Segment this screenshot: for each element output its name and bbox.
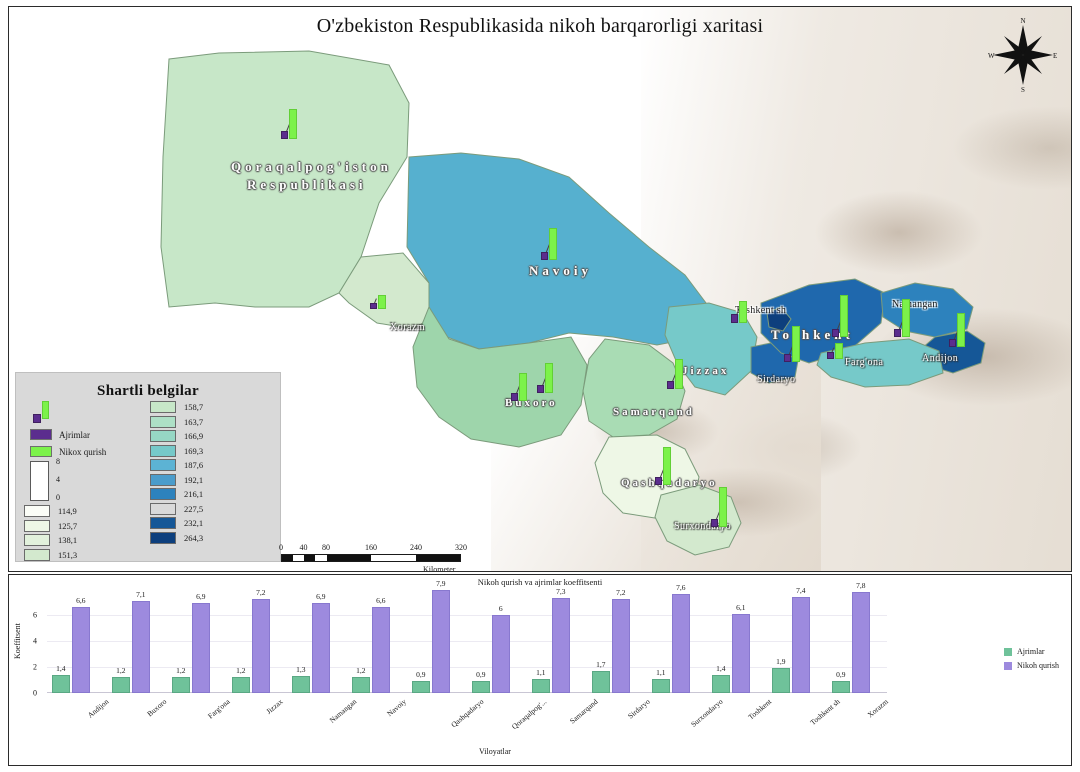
- chart-bar-nikoh-qurish: [492, 615, 510, 693]
- chart-bar-value-label: 1,2: [176, 666, 185, 675]
- legend-series-ajrimlar: Ajrimlar: [30, 429, 90, 440]
- legend-class-left-value: 138,1: [58, 535, 77, 545]
- svg-text:E: E: [1053, 52, 1057, 60]
- chart-bar-ajrimlar: [472, 681, 490, 693]
- chart-x-tick-label: Toshkent sh: [808, 697, 841, 727]
- map-bar-symbol: [667, 359, 685, 389]
- scalebar-tick: 320: [455, 543, 467, 552]
- legend-class-right-row: 264,3: [150, 532, 203, 544]
- chart-bar-value-label: 1,7: [596, 660, 605, 669]
- chart-bar-group: 0,96: [467, 589, 527, 693]
- map-bar-symbol: [655, 447, 673, 485]
- chart-bar-value-label: 1,1: [536, 668, 545, 677]
- chart-bar-value-label: 1,3: [296, 665, 305, 674]
- chart-panel: Nikoh qurish va ajrimlar koeffitsenti Ko…: [8, 574, 1072, 766]
- legend-scale-tick-4: 4: [56, 475, 60, 484]
- legend-class-right-row: 192,1: [150, 474, 203, 486]
- chart-bar-nikoh-qurish: [312, 603, 330, 693]
- legend-class-right-value: 169,3: [184, 446, 203, 456]
- map-bar-ajrimlar: [370, 303, 377, 309]
- map-bar-nikoh-qurish: [663, 447, 671, 485]
- legend-class-right-swatch: [150, 401, 176, 413]
- chart-y-axis-label: Koeffitsent: [13, 623, 22, 659]
- map-bar-symbol: [832, 295, 850, 337]
- map-bar-symbol: [894, 299, 912, 337]
- chart-x-tick-label: Namangan: [328, 697, 359, 725]
- legend-series-nikox-qurish: Nikox qurish: [30, 446, 106, 457]
- chart-bar-value-label: 0,9: [836, 670, 845, 679]
- legend-class-right-value: 158,7: [184, 402, 203, 412]
- map-bar-ajrimlar: [784, 354, 791, 362]
- scalebar-tick: 160: [365, 543, 377, 552]
- legend-class-right-value: 232,1: [184, 518, 203, 528]
- legend-series-label: Nikox qurish: [59, 447, 106, 457]
- map-bar-ajrimlar: [731, 314, 738, 323]
- map-bar-nikoh-qurish: [519, 373, 527, 401]
- chart-x-tick-label: Toshkent: [746, 697, 773, 722]
- chart-bar-nikoh-qurish: [192, 603, 210, 693]
- chart-bar-value-label: 6,1: [736, 603, 745, 612]
- chart-bar-group: 0,97,8: [827, 589, 887, 693]
- chart-bar-nikoh-qurish: [552, 598, 570, 693]
- chart-bar-value-label: 7,2: [616, 588, 625, 597]
- chart-bar-value-label: 6,9: [196, 592, 205, 601]
- chart-x-tick-label: Sirdaryo: [626, 697, 652, 721]
- scalebar-unit-label: Kilometer: [423, 565, 455, 572]
- chart-bar-value-label: 7,3: [556, 587, 565, 596]
- legend-class-right-row: 166,9: [150, 430, 203, 442]
- chart-bar-value-label: 1,1: [656, 668, 665, 677]
- map-scalebar: 04080160240320 Kilometer: [281, 543, 461, 562]
- map-bar-ajrimlar: [894, 329, 901, 337]
- chart-legend-label: Nikoh qurish: [1017, 661, 1059, 670]
- chart-bar-group: 1,77,2: [587, 589, 647, 693]
- chart-bar-ajrimlar: [772, 668, 790, 693]
- map-bar-symbol: [281, 109, 299, 139]
- chart-bar-nikoh-qurish: [852, 592, 870, 693]
- chart-bar-group: 1,46,6: [47, 589, 107, 693]
- chart-x-axis-label: Viloyatlar: [479, 747, 511, 756]
- legend-scale-tick-0: 0: [56, 493, 60, 502]
- chart-bar-nikoh-qurish: [132, 601, 150, 693]
- chart-bar-ajrimlar: [832, 681, 850, 693]
- chart-bar-value-label: 1,2: [236, 666, 245, 675]
- chart-x-tick-label: Samarqand: [568, 697, 600, 726]
- legend-class-right-row: 163,7: [150, 416, 203, 428]
- legend-class-left-swatch: [24, 505, 50, 517]
- chart-bar-value-label: 1,2: [116, 666, 125, 675]
- map-bar-nikoh-qurish: [545, 363, 553, 393]
- legend-class-right-value: 166,9: [184, 431, 203, 441]
- map-bar-ajrimlar: [281, 131, 288, 139]
- legend-class-right-row: 232,1: [150, 517, 203, 529]
- map-bar-symbol: [827, 343, 845, 359]
- map-bar-nikoh-qurish: [719, 487, 727, 527]
- svg-text:W: W: [988, 52, 995, 60]
- chart-bar-nikoh-qurish: [432, 590, 450, 693]
- map-bar-ajrimlar: [949, 339, 956, 347]
- chart-bar-group: 1,97,4: [767, 589, 827, 693]
- chart-bar-nikoh-qurish: [732, 614, 750, 693]
- map-bar-symbol: [370, 295, 388, 309]
- chart-bar-ajrimlar: [532, 679, 550, 693]
- chart-bar-ajrimlar: [412, 681, 430, 693]
- legend-class-right-value: 192,1: [184, 475, 203, 485]
- map-bar-nikoh-qurish: [835, 343, 843, 359]
- legend-class-right-swatch: [150, 416, 176, 428]
- map-bar-symbol: [784, 326, 802, 362]
- chart-bar-value-label: 7,9: [436, 579, 445, 588]
- legend-class-right-swatch: [150, 474, 176, 486]
- chart-bar-group: 1,17,6: [647, 589, 707, 693]
- map-bar-ajrimlar: [537, 385, 544, 393]
- legend-class-right-swatch: [150, 430, 176, 442]
- chart-bar-ajrimlar: [52, 675, 70, 693]
- chart-title: Nikoh qurish va ajrimlar koeffitsenti: [9, 577, 1071, 587]
- legend-class-left-row: 114,9: [24, 505, 77, 517]
- map-bar-symbol: [949, 313, 967, 347]
- chart-legend-label: Ajrimlar: [1017, 647, 1045, 656]
- chart-x-tick-label: Farg'ona: [206, 697, 232, 720]
- chart-bar-value-label: 7,6: [676, 583, 685, 592]
- chart-bar-ajrimlar: [352, 677, 370, 693]
- map-bar-ajrimlar: [667, 381, 674, 389]
- chart-bar-value-label: 0,9: [476, 670, 485, 679]
- map-bar-ajrimlar: [511, 393, 518, 401]
- map-report-page: O'zbekiston Respublikasida nikoh barqaro…: [0, 0, 1080, 772]
- chart-y-tick-label: 4: [33, 637, 37, 646]
- chart-bar-group: 1,26,6: [347, 589, 407, 693]
- legend-class-right-swatch: [150, 517, 176, 529]
- map-bar-ajrimlar: [832, 329, 839, 337]
- scalebar-tick: 80: [322, 543, 330, 552]
- chart-plot-area: 02461,46,6Andijon1,27,1Buxoro1,26,9Farg'…: [47, 589, 887, 693]
- map-bar-symbol: [541, 228, 559, 260]
- chart-bar-value-label: 7,4: [796, 586, 805, 595]
- map-bar-symbol: [711, 487, 729, 527]
- legend-class-right-row: 227,5: [150, 503, 203, 515]
- chart-legend-item: Ajrimlar: [1004, 647, 1059, 656]
- legend-class-right-swatch: [150, 488, 176, 500]
- chart-bar-value-label: 0,9: [416, 670, 425, 679]
- chart-bar-group: 1,27,1: [107, 589, 167, 693]
- chart-bar-nikoh-qurish: [672, 594, 690, 693]
- chart-y-tick-label: 0: [33, 689, 37, 698]
- chart-legend: AjrimlarNikoh qurish: [1004, 647, 1059, 675]
- compass-rose-icon: N S W E: [983, 13, 1063, 95]
- map-bar-nikoh-qurish: [378, 295, 386, 309]
- chart-bar-value-label: 1,4: [716, 664, 725, 673]
- chart-bar-ajrimlar: [112, 677, 130, 693]
- chart-bar-ajrimlar: [232, 677, 250, 693]
- legend-class-right-value: 216,1: [184, 489, 203, 499]
- chart-bar-group: 1,46,1: [707, 589, 767, 693]
- chart-bar-group: 1,26,9: [167, 589, 227, 693]
- legend-class-right-value: 187,6: [184, 460, 203, 470]
- legend-bar-sample-icon: [30, 401, 64, 423]
- chart-bar-value-label: 1,2: [356, 666, 365, 675]
- map-bar-ajrimlar: [711, 519, 718, 527]
- chart-legend-swatch: [1004, 648, 1012, 656]
- legend-class-right-swatch: [150, 445, 176, 457]
- legend-class-right-value: 264,3: [184, 533, 203, 543]
- chart-bar-nikoh-qurish: [72, 607, 90, 693]
- legend-class-left-value: 114,9: [58, 506, 77, 516]
- legend-class-right-row: 187,6: [150, 459, 203, 471]
- chart-x-tick-label: Buxoro: [145, 697, 168, 718]
- map-bar-symbol: [731, 301, 749, 323]
- scalebar-strip: [281, 554, 461, 562]
- map-title: O'zbekiston Respublikasida nikoh barqaro…: [9, 15, 1071, 38]
- chart-bar-value-label: 1,4: [56, 664, 65, 673]
- legend-series-label: Ajrimlar: [59, 430, 90, 440]
- chart-bar-ajrimlar: [292, 676, 310, 693]
- map-bar-ajrimlar: [655, 477, 662, 485]
- chart-bar-value-label: 6,6: [76, 596, 85, 605]
- chart-x-tick-label: Navoiy: [385, 697, 408, 718]
- legend-swatch-nikox-qurish: [30, 446, 52, 457]
- legend-class-left-value: 125,7: [58, 521, 77, 531]
- scalebar-tick: 240: [410, 543, 422, 552]
- map-bar-nikoh-qurish: [739, 301, 747, 323]
- legend-class-left-row: 151,3: [24, 549, 77, 561]
- map-bar-ajrimlar: [827, 352, 834, 359]
- chart-bar-value-label: 6,6: [376, 596, 385, 605]
- legend-class-right-swatch: [150, 532, 176, 544]
- legend-class-right-row: 169,3: [150, 445, 203, 457]
- map-bar-nikoh-qurish: [957, 313, 965, 347]
- legend-class-right-value: 227,5: [184, 504, 203, 514]
- map-bar-nikoh-qurish: [675, 359, 683, 389]
- chart-bar-nikoh-qurish: [252, 599, 270, 693]
- chart-bar-value-label: 6,9: [316, 592, 325, 601]
- legend-class-right-value: 163,7: [184, 417, 203, 427]
- chart-bar-value-label: 6: [499, 604, 503, 613]
- map-legend: Shartli belgilar Ajrimlar Nikox qurish 8…: [15, 372, 281, 562]
- chart-bar-value-label: 7,1: [136, 590, 145, 599]
- legend-height-scale-box: [30, 461, 49, 501]
- chart-bar-nikoh-qurish: [792, 597, 810, 693]
- chart-legend-swatch: [1004, 662, 1012, 670]
- svg-text:S: S: [1021, 86, 1025, 94]
- chart-bar-nikoh-qurish: [372, 607, 390, 693]
- legend-class-right-swatch: [150, 503, 176, 515]
- map-bar-nikoh-qurish: [792, 326, 800, 362]
- map-panel: O'zbekiston Respublikasida nikoh barqaro…: [8, 6, 1072, 572]
- map-bar-nikoh-qurish: [840, 295, 848, 337]
- chart-bar-group: 1,17,3: [527, 589, 587, 693]
- map-bar-nikoh-qurish: [549, 228, 557, 260]
- chart-bar-ajrimlar: [172, 677, 190, 693]
- legend-class-left-swatch: [24, 549, 50, 561]
- chart-x-tick-label: Qashqadaryo: [449, 697, 485, 729]
- legend-class-left-row: 138,1: [24, 534, 77, 546]
- chart-y-tick-label: 2: [33, 663, 37, 672]
- legend-class-left-value: 151,3: [58, 550, 77, 560]
- legend-class-right-swatch: [150, 459, 176, 471]
- chart-x-tick-label: Jizzax: [264, 697, 284, 716]
- map-bar-symbol: [511, 373, 529, 401]
- chart-bar-value-label: 7,8: [856, 581, 865, 590]
- map-bar-nikoh-qurish: [289, 109, 297, 139]
- chart-y-tick-label: 6: [33, 611, 37, 620]
- legend-class-left-swatch: [24, 520, 50, 532]
- legend-swatch-ajrimlar: [30, 429, 52, 440]
- chart-x-tick-label: Qoraqalpog'...: [510, 697, 548, 731]
- legend-class-right-row: 158,7: [150, 401, 203, 413]
- map-bar-symbol: [537, 363, 555, 393]
- chart-bar-group: 1,27,2: [227, 589, 287, 693]
- legend-scale-tick-8: 8: [56, 457, 60, 466]
- scalebar-tick-labels: 04080160240320: [281, 543, 461, 554]
- map-bar-nikoh-qurish: [902, 299, 910, 337]
- legend-class-right-row: 216,1: [150, 488, 203, 500]
- scalebar-tick: 0: [279, 543, 283, 552]
- legend-class-left-swatch: [24, 534, 50, 546]
- chart-bar-ajrimlar: [712, 675, 730, 693]
- chart-bar-value-label: 7,2: [256, 588, 265, 597]
- chart-x-tick-label: Surxondaryo: [689, 697, 724, 729]
- chart-bar-ajrimlar: [592, 671, 610, 693]
- chart-bar-nikoh-qurish: [612, 599, 630, 693]
- legend-class-left-row: 125,7: [24, 520, 77, 532]
- chart-legend-item: Nikoh qurish: [1004, 661, 1059, 670]
- scalebar-tick: 40: [300, 543, 308, 552]
- chart-bar-value-label: 1,9: [776, 657, 785, 666]
- legend-title: Shartli belgilar: [16, 383, 280, 400]
- map-bar-ajrimlar: [541, 252, 548, 260]
- chart-bar-ajrimlar: [652, 679, 670, 693]
- svg-text:N: N: [1020, 17, 1025, 25]
- chart-x-tick-label: Andijon: [86, 697, 111, 720]
- chart-bar-group: 0,97,9: [407, 589, 467, 693]
- chart-bar-group: 1,36,9: [287, 589, 347, 693]
- chart-x-tick-label: Xorazm: [866, 697, 890, 719]
